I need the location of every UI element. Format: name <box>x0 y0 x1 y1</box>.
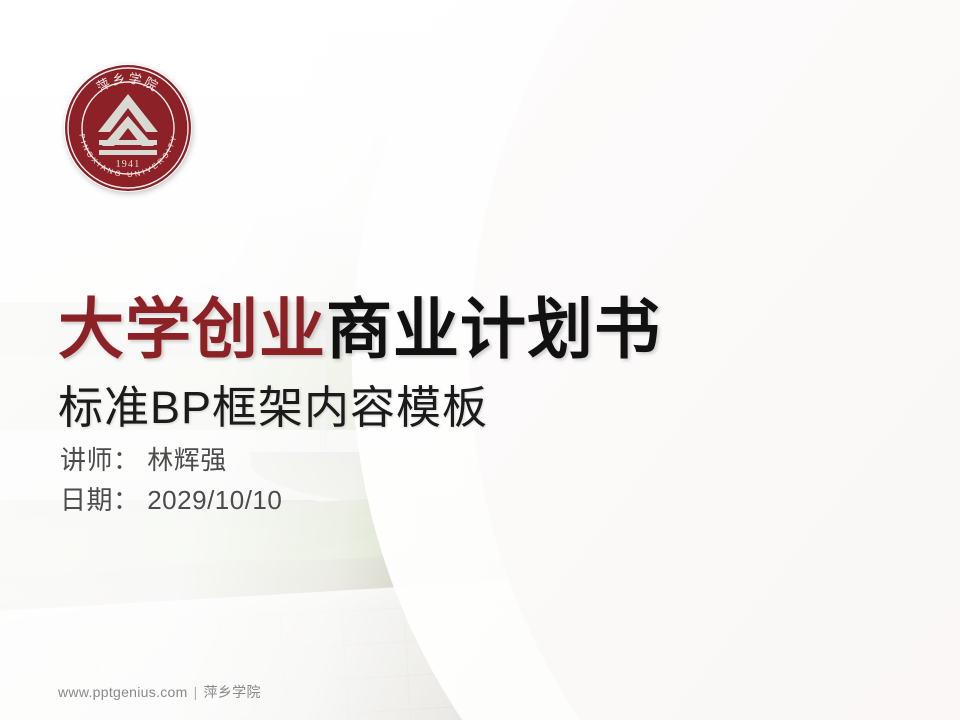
footer-organization: 萍乡学院 <box>204 684 261 700</box>
slide-title-rest: 商业计划书 <box>326 292 661 366</box>
svg-text:1941: 1941 <box>116 159 141 170</box>
university-logo: 萍乡学院 PINGXIANG UNIVERSITY 1941 <box>62 62 194 194</box>
slide-subtitle: 标准BP框架内容模板 <box>58 385 488 430</box>
slide-title-highlight: 大学创业 <box>58 292 326 366</box>
presentation-slide: 萍乡学院 PINGXIANG UNIVERSITY 1941 大学创业商业计划书… <box>0 0 960 720</box>
footer-separator: | <box>194 684 198 700</box>
slide-meta: 讲师： 林辉强 日期： 2029/10/10 <box>60 440 282 520</box>
date-line: 日期： 2029/10/10 <box>60 480 282 520</box>
slide-footer: www.pptgenius.com|萍乡学院 <box>58 682 261 702</box>
slide-title: 大学创业商业计划书 <box>58 296 661 362</box>
presenter-line: 讲师： 林辉强 <box>60 440 282 480</box>
footer-website[interactable]: www.pptgenius.com <box>58 684 188 700</box>
